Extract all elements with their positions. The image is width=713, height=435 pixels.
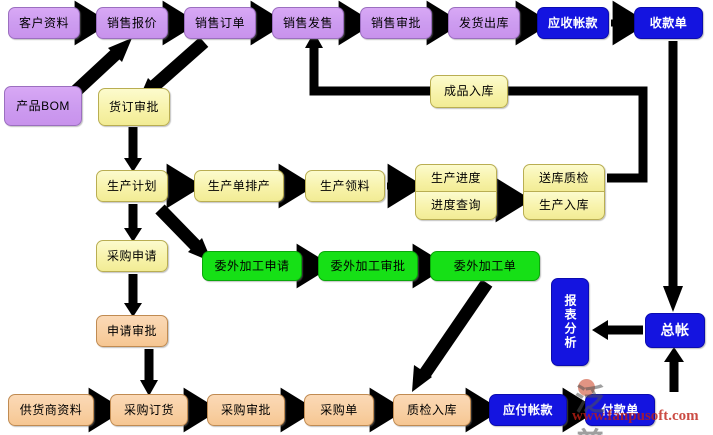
node-warehouse-inspection[interactable]: 送库质检 <box>523 164 605 192</box>
node-production-material-issue[interactable]: 生产领料 <box>305 170 385 202</box>
node-label: 质检入库 <box>407 404 457 417</box>
node-production-progress[interactable]: 生产进度 <box>415 164 497 192</box>
node-general-ledger[interactable]: 总帐 <box>645 313 705 348</box>
node-label: 采购单 <box>320 404 358 417</box>
node-label: 委外加工单 <box>454 260 517 273</box>
node-label: 生产单排产 <box>208 180 271 193</box>
node-label: 申请审批 <box>107 325 157 338</box>
node-label: 成品入库 <box>444 85 494 98</box>
node-label: 产品BOM <box>16 100 70 113</box>
node-purchase-approval[interactable]: 采购审批 <box>207 394 285 426</box>
node-label: 生产入库 <box>539 199 589 212</box>
node-label: 委外加工申请 <box>214 260 289 273</box>
node-report-analysis[interactable]: 报表分析 <box>551 278 589 366</box>
node-label: 收款单 <box>650 17 688 30</box>
node-shipment-outbound[interactable]: 发货出库 <box>448 7 520 39</box>
node-receipt-voucher[interactable]: 收款单 <box>634 7 703 39</box>
node-supplier-data[interactable]: 供货商资料 <box>8 394 94 426</box>
node-label: 采购订货 <box>124 404 174 417</box>
node-label: 生产进度 <box>431 172 481 185</box>
flowchart-canvas: 客户资料 销售报价 销售订单 销售发售 销售审批 发货出库 应收帐款 收款单 产… <box>0 0 713 435</box>
node-customer-data[interactable]: 客户资料 <box>8 7 80 39</box>
node-label: 销售订单 <box>195 17 245 30</box>
node-label: 货订审批 <box>109 101 159 114</box>
node-label: 销售发售 <box>283 17 333 30</box>
node-label: 进度查询 <box>431 199 481 212</box>
node-label: 委外加工审批 <box>330 260 405 273</box>
node-production-inbound[interactable]: 生产入库 <box>523 192 605 220</box>
node-progress-query[interactable]: 进度查询 <box>415 192 497 220</box>
node-purchase-ordering[interactable]: 采购订货 <box>110 394 188 426</box>
node-payment-voucher[interactable]: 付款单 <box>585 394 655 426</box>
node-product-bom[interactable]: 产品BOM <box>4 86 82 126</box>
node-label: 销售审批 <box>371 17 421 30</box>
node-label: 发货出库 <box>459 17 509 30</box>
node-label: 采购申请 <box>107 250 157 263</box>
node-label: 采购审批 <box>221 404 271 417</box>
node-label: 送库质检 <box>539 172 589 185</box>
node-sales-approval[interactable]: 销售审批 <box>360 7 432 39</box>
node-outsourcing-request[interactable]: 委外加工申请 <box>202 251 302 281</box>
node-label: 总帐 <box>661 323 690 338</box>
node-production-plan[interactable]: 生产计划 <box>96 170 168 202</box>
node-requisition-approval[interactable]: 申请审批 <box>96 315 168 347</box>
connector-layer <box>0 0 713 435</box>
node-label: 应收帐款 <box>548 17 598 30</box>
node-production-scheduling[interactable]: 生产单排产 <box>194 170 284 202</box>
node-accounts-payable[interactable]: 应付帐款 <box>489 394 567 426</box>
node-label: 应付帐款 <box>503 404 553 417</box>
node-purchase-requisition[interactable]: 采购申请 <box>96 240 168 272</box>
node-label: 供货商资料 <box>20 404 83 417</box>
node-sales-order[interactable]: 销售订单 <box>184 7 256 39</box>
node-order-approval[interactable]: 货订审批 <box>98 88 170 126</box>
node-accounts-receivable[interactable]: 应收帐款 <box>537 7 609 39</box>
node-label: 生产领料 <box>320 180 370 193</box>
node-outsourcing-order[interactable]: 委外加工单 <box>430 251 540 281</box>
node-label: 付款单 <box>601 404 639 417</box>
node-outsourcing-approval[interactable]: 委外加工审批 <box>318 251 418 281</box>
node-inspection-inbound[interactable]: 质检入库 <box>393 394 471 426</box>
node-label: 生产计划 <box>107 180 157 193</box>
node-sales-quotation[interactable]: 销售报价 <box>96 7 168 39</box>
node-label: 报表分析 <box>564 294 576 350</box>
node-sales-issue[interactable]: 销售发售 <box>272 7 344 39</box>
node-label: 销售报价 <box>107 17 157 30</box>
node-purchase-order[interactable]: 采购单 <box>304 394 374 426</box>
node-finished-goods-inbound[interactable]: 成品入库 <box>430 75 508 108</box>
node-label: 客户资料 <box>19 17 69 30</box>
